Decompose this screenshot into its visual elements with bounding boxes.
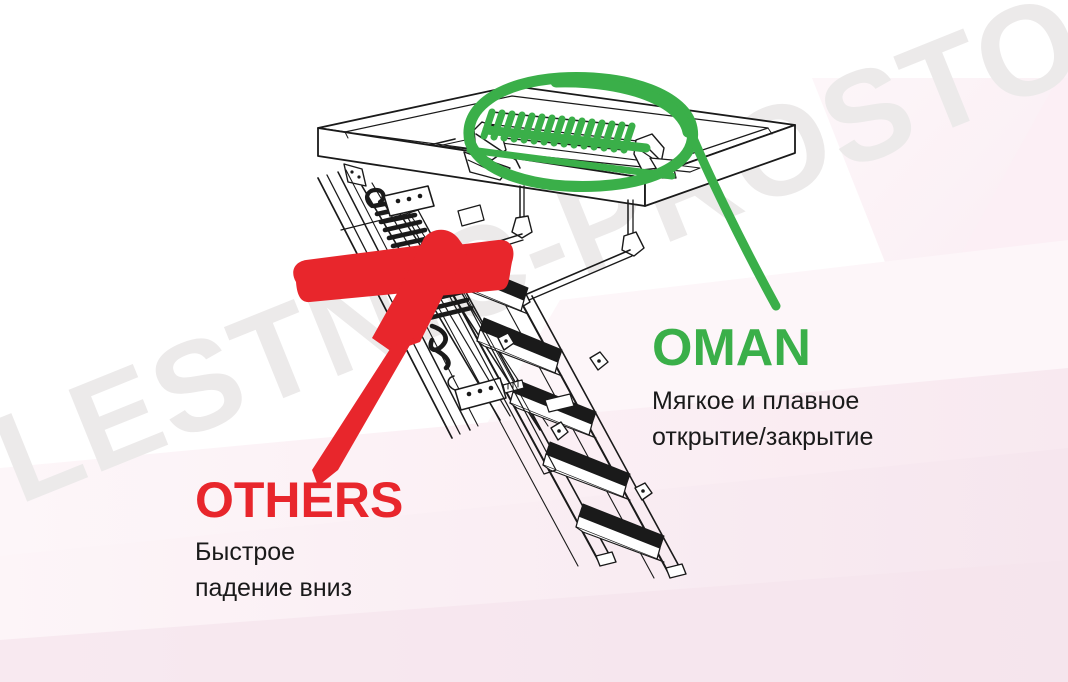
infographic-canvas: LESTNIC-PROSTO.RU	[0, 0, 1068, 682]
oman-subtitle-line-1: Мягкое и плавное	[652, 384, 982, 420]
others-title: OTHERS	[195, 475, 495, 525]
oman-subtitle-line-2: открытие/закрытие	[652, 420, 982, 456]
oman-title: OMAN	[652, 322, 982, 374]
callout-oman: OMAN Мягкое и плавное открытие/закрытие	[652, 322, 982, 455]
callout-others: OTHERS Быстрое падение вниз	[195, 475, 495, 606]
others-subtitle-line-1: Быстрое	[195, 535, 495, 571]
others-subtitle-line-2: падение вниз	[195, 571, 495, 607]
